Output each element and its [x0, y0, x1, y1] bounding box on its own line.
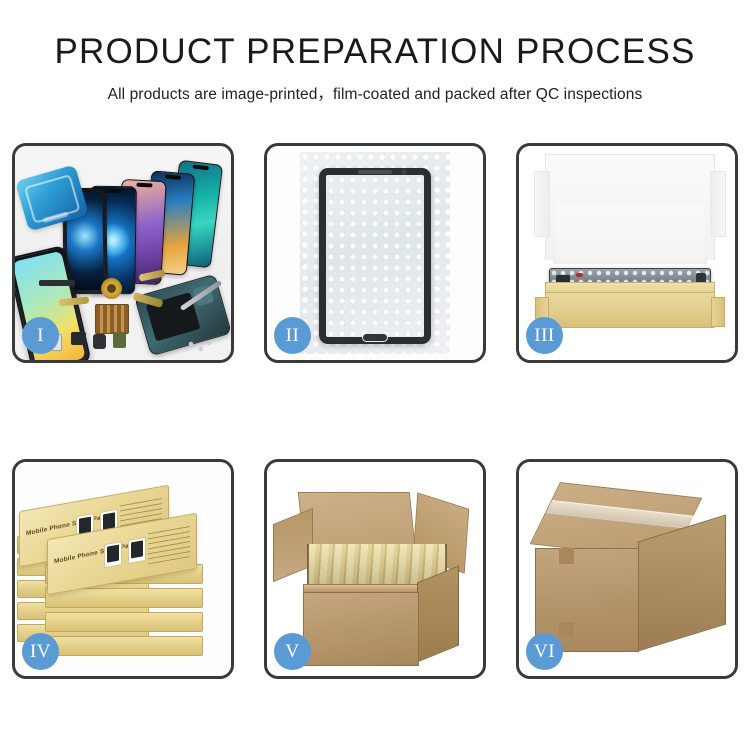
process-step-grid: I II	[12, 143, 738, 688]
process-step-panel-2[interactable]: II	[264, 143, 486, 363]
phone-fan-group	[61, 160, 231, 280]
kraft-box-base-icon	[545, 292, 715, 328]
red-label-icon	[576, 273, 583, 277]
loose-screws-icon	[187, 340, 213, 354]
step-badge-6: VI	[526, 633, 563, 670]
earpiece-slot-icon	[358, 170, 392, 174]
page-title: PRODUCT PREPARATION PROCESS	[0, 34, 750, 71]
page-subtitle: All products are image-printed，film-coat…	[0, 82, 750, 104]
notch-icon	[136, 183, 152, 188]
carton-corner-tab-icon	[559, 622, 574, 637]
carton-front-panel-icon	[303, 592, 419, 666]
front-camera-icon	[401, 169, 407, 175]
step-badge-5: V	[274, 633, 311, 670]
copper-coil-icon	[101, 278, 122, 299]
carton-corner-tab-icon	[559, 548, 574, 564]
process-step-panel-6[interactable]: VI	[516, 459, 738, 679]
box-lid-label: Mobile Phone Spare Parts	[54, 541, 138, 566]
component-chip-icon	[93, 334, 106, 349]
stacked-box-edge	[45, 636, 203, 656]
component-chip-icon	[113, 332, 126, 348]
notch-icon	[105, 189, 121, 193]
screw-tray-icon	[95, 304, 129, 334]
spec-checklist-icon	[148, 525, 190, 564]
earpiece-mesh-icon	[39, 280, 75, 286]
carton-side-panel-icon	[417, 566, 459, 663]
process-step-panel-3[interactable]: III	[516, 143, 738, 363]
stacked-box-edge	[45, 612, 203, 632]
home-button-icon	[362, 333, 388, 342]
phone-thumbnail-icon	[104, 541, 122, 568]
product-preparation-poster: PRODUCT PREPARATION PROCESS All products…	[0, 0, 750, 750]
step-badge-2: II	[274, 317, 311, 354]
phone-thumbnail-icon	[128, 537, 146, 564]
step-badge-1: I	[22, 317, 59, 354]
page-header: PRODUCT PREPARATION PROCESS All products…	[0, 0, 750, 104]
component-chip-icon	[71, 332, 86, 345]
process-step-panel-4[interactable]: Mobile Phone Spare Parts Mobile Phone Sp…	[12, 459, 234, 679]
process-step-panel-5[interactable]: V	[264, 459, 486, 679]
notch-icon	[165, 174, 181, 179]
foam-insert-icon	[553, 202, 707, 264]
step-badge-3: III	[526, 317, 563, 354]
notch-icon	[193, 164, 209, 170]
step-badge-4: IV	[22, 633, 59, 670]
process-step-panel-1[interactable]: I	[12, 143, 234, 363]
bubble-wrap-sheet-icon	[300, 152, 450, 354]
phone-screen-glass-icon	[319, 168, 431, 344]
